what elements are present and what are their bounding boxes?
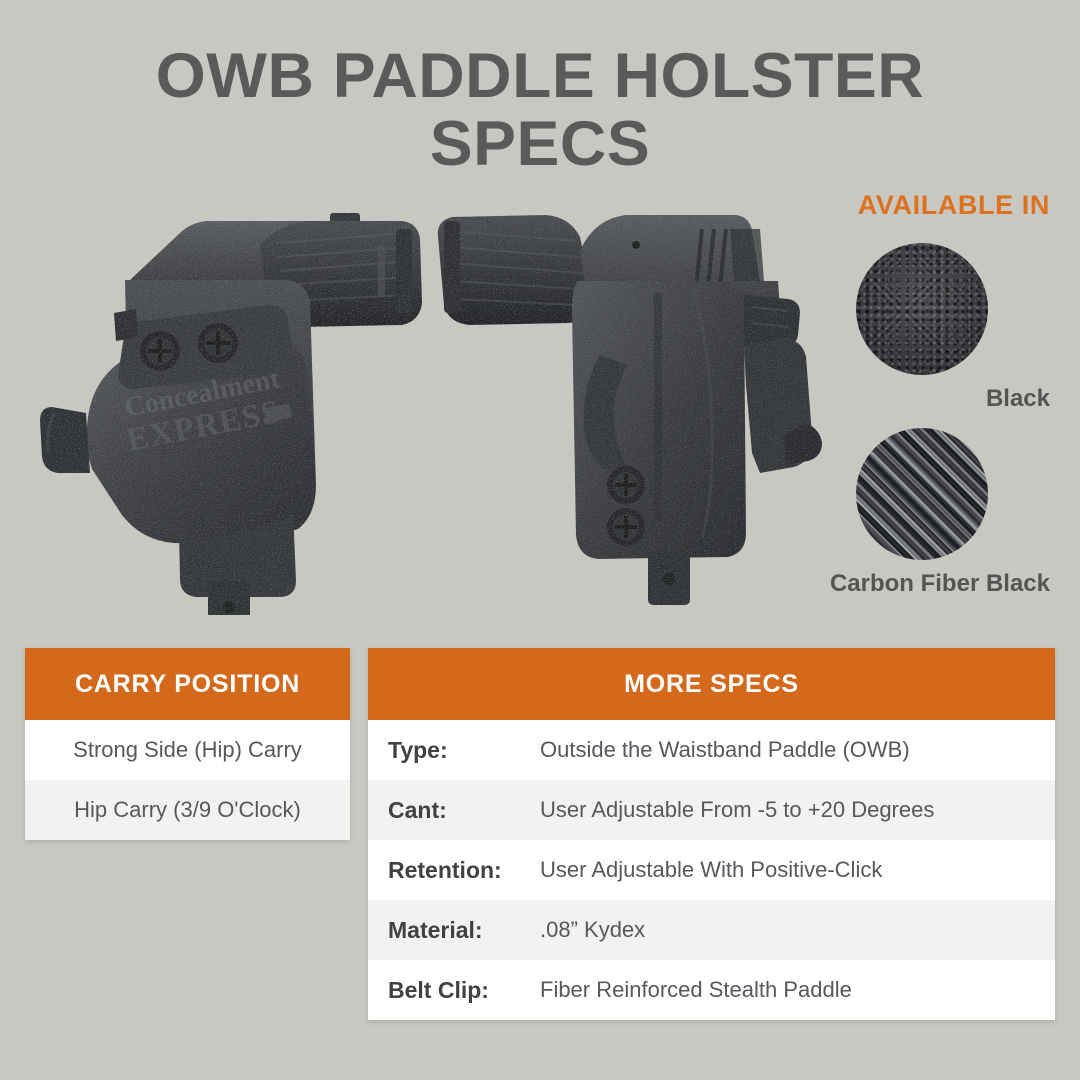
table-row: Strong Side (Hip) Carry [25,720,350,780]
spec-value: User Adjustable With Positive-Click [540,857,882,883]
table-row: Type: Outside the Waistband Paddle (OWB) [368,720,1055,780]
spec-value: .08” Kydex [540,917,645,943]
table-row: Cant: User Adjustable From -5 to +20 Deg… [368,780,1055,840]
more-specs-table: MORE SPECS Type: Outside the Waistband P… [368,648,1055,1020]
spec-value: Outside the Waistband Paddle (OWB) [540,737,910,763]
spec-label: Material: [388,917,540,944]
carry-position-value: Strong Side (Hip) Carry [73,737,302,763]
swatch-label-carbon-fiber-black: Carbon Fiber Black [760,570,1050,599]
available-in-heading: AVAILABLE IN [760,190,1050,221]
color-swatch-carbon-fiber-black[interactable]: Carbon Fiber Black [760,428,1050,599]
table-row: Hip Carry (3/9 O'Clock) [25,780,350,840]
table-row: Belt Clip: Fiber Reinforced Stealth Padd… [368,960,1055,1020]
page-title: OWB PADDLE HOLSTER SPECS [0,42,1080,178]
more-specs-table-header: MORE SPECS [368,648,1055,720]
carry-position-value: Hip Carry (3/9 O'Clock) [74,797,301,823]
black-texture-swatch-icon [856,243,988,375]
swatch-label-black: Black [760,385,1050,414]
spec-label: Type: [388,737,540,764]
carry-position-table-header: CARRY POSITION [25,648,350,720]
product-image-stage: Concealment EXPRESS [0,185,830,625]
spec-label: Retention: [388,857,540,884]
table-row: Material: .08” Kydex [368,900,1055,960]
holster-front-view-image: Concealment EXPRESS [30,185,440,615]
spec-label: Belt Clip: [388,977,540,1004]
color-swatch-black[interactable]: Black [760,243,1050,414]
carry-position-table: CARRY POSITION Strong Side (Hip) Carry H… [25,648,350,840]
spec-label: Cant: [388,797,540,824]
spec-value: User Adjustable From -5 to +20 Degrees [540,797,934,823]
available-in-panel: AVAILABLE IN Black Carbon Fiber Black [760,190,1050,613]
spec-value: Fiber Reinforced Stealth Paddle [540,977,852,1003]
spec-tables-row: CARRY POSITION Strong Side (Hip) Carry H… [25,648,1055,1020]
table-row: Retention: User Adjustable With Positive… [368,840,1055,900]
carbon-fiber-black-swatch-icon [856,428,988,560]
title-block: OWB PADDLE HOLSTER SPECS [0,42,1080,178]
